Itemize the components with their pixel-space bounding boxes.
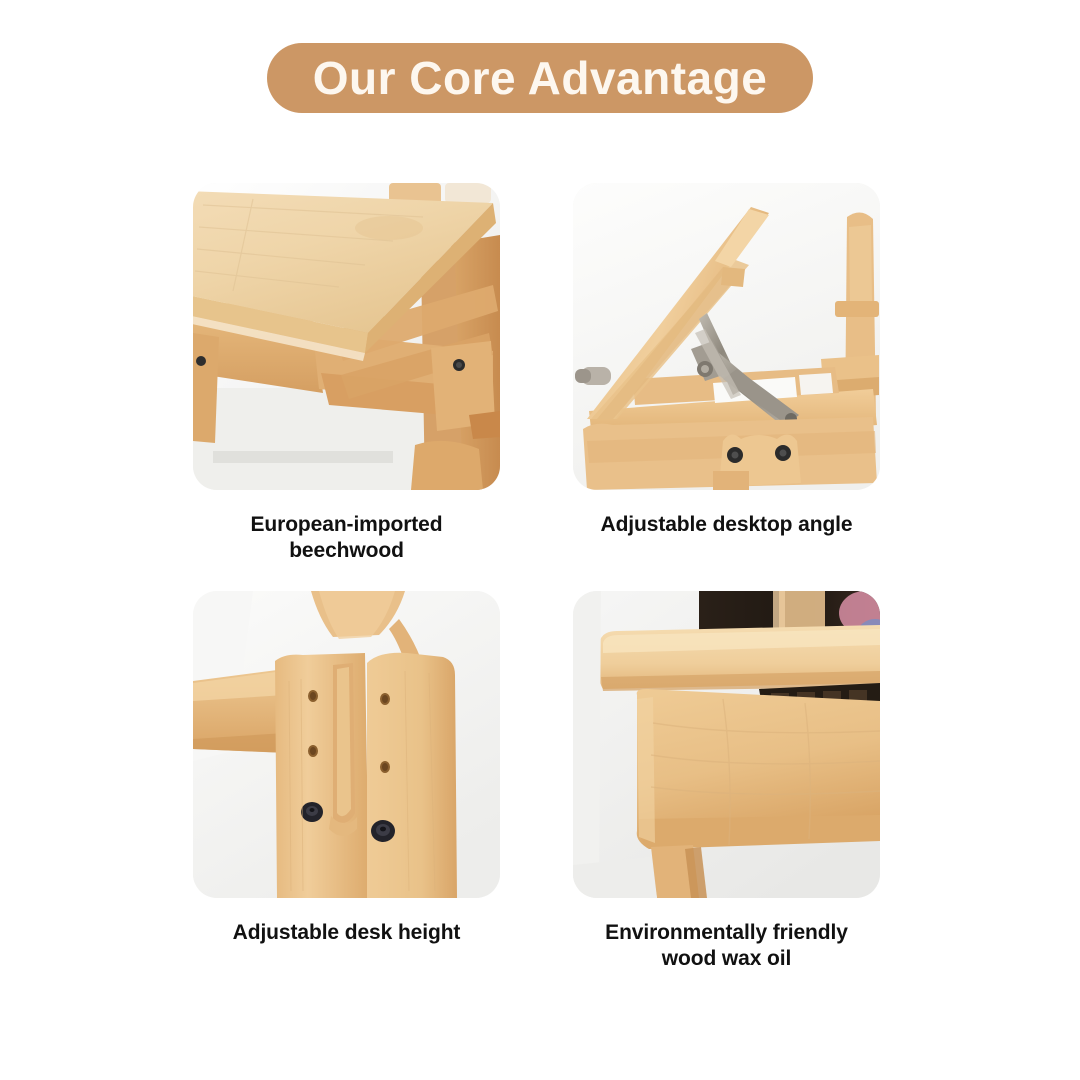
feature-card-beechwood: European-imported beechwood (193, 183, 500, 563)
feature-caption: Environmentally friendly wood wax oil (605, 920, 848, 971)
feature-caption: European-imported beechwood (193, 512, 500, 563)
feature-card-wood-wax-oil: Environmentally friendly wood wax oil (573, 591, 880, 971)
feature-caption: Adjustable desktop angle (601, 512, 853, 538)
waxed-desk-edge-photo (573, 591, 880, 898)
height-adjustment-leg-photo (193, 591, 500, 898)
advantage-infographic-page: Our Core Advantage (0, 0, 1080, 1080)
tilting-desktop-hinge-photo (573, 183, 880, 490)
feature-card-desktop-angle: Adjustable desktop angle (573, 183, 880, 563)
page-title-banner: Our Core Advantage (0, 43, 1080, 113)
feature-card-desk-height: Adjustable desk height (193, 591, 500, 971)
desk-corner-beechwood-photo (193, 183, 500, 490)
page-title: Our Core Advantage (313, 55, 768, 101)
feature-caption: Adjustable desk height (233, 920, 461, 946)
feature-grid: European-imported beechwood (193, 183, 887, 971)
title-pill: Our Core Advantage (267, 43, 814, 113)
